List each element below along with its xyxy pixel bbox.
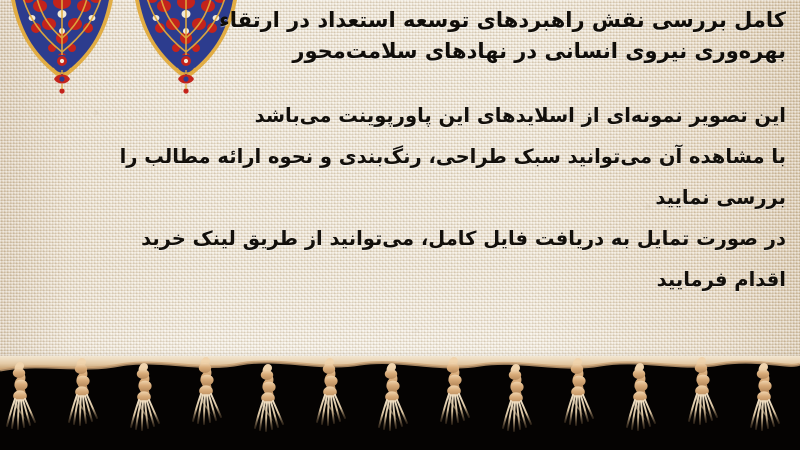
slide-body-text: این تصویر نمونه‌ای از اسلایدهای این پاور…	[86, 95, 786, 300]
carpet-fringe	[0, 356, 800, 450]
page-title: کامل بررسی نقش راهبردهای توسعه استعداد د…	[86, 5, 786, 67]
body-line-2: با مشاهده آن می‌توانید سبک طراحی، رنگ‌بن…	[86, 136, 786, 218]
slide-canvas: کامل بررسی نقش راهبردهای توسعه استعداد د…	[0, 0, 800, 450]
body-line-3: در صورت تمایل به دریافت فایل کامل، می‌تو…	[86, 218, 786, 300]
fringe-tassels	[7, 361, 779, 431]
title-line-2: بهره‌وری نیروی انسانی در نهادهای سلامت‌م…	[86, 36, 786, 67]
title-line-1: کامل بررسی نقش راهبردهای توسعه استعداد د…	[86, 5, 786, 36]
slide-text-column: کامل بررسی نقش راهبردهای توسعه استعداد د…	[86, 0, 786, 300]
body-line-1: این تصویر نمونه‌ای از اسلایدهای این پاور…	[86, 95, 786, 136]
